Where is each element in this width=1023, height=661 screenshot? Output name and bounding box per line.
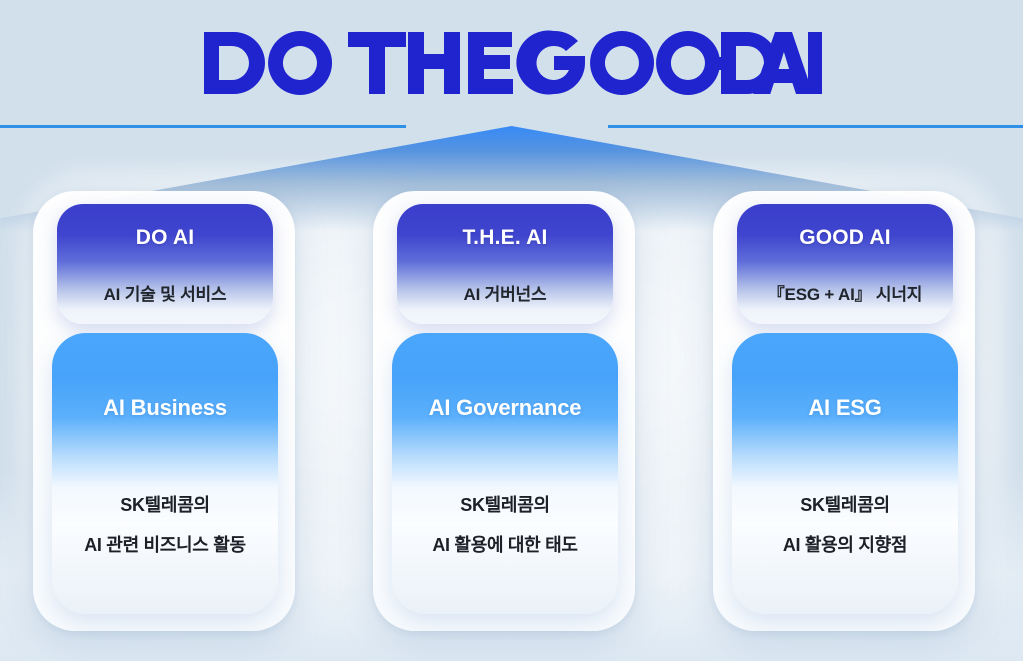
description-line: AI 활용에 대한 태도 bbox=[392, 525, 618, 565]
pillar-title: GOOD AI bbox=[737, 226, 953, 250]
pillar-body-title: AI Governance bbox=[392, 395, 618, 421]
pillar-header-card[interactable]: GOOD AI 『ESG + AI』 시너지 bbox=[737, 204, 953, 324]
pillar-column-do-ai[interactable]: DO AI AI 기술 및 서비스 AI Business SK텔레콤의 AI … bbox=[33, 191, 295, 631]
pillar-title: T.H.E. AI bbox=[397, 226, 613, 250]
infographic-canvas: DO AI AI 기술 및 서비스 AI Business SK텔레콤의 AI … bbox=[0, 0, 1023, 661]
pillar-body-description: SK텔레콤의 AI 관련 비즈니스 활동 bbox=[52, 485, 278, 565]
pillar-body-description: SK텔레콤의 AI 활용의 지향점 bbox=[732, 485, 958, 565]
pillar-column-good-ai[interactable]: GOOD AI 『ESG + AI』 시너지 AI ESG SK텔레콤의 AI … bbox=[713, 191, 975, 631]
description-line: SK텔레콤의 bbox=[392, 485, 618, 525]
pillar-header-card[interactable]: DO AI AI 기술 및 서비스 bbox=[57, 204, 273, 324]
description-line: AI 활용의 지향점 bbox=[732, 525, 958, 565]
pillar-body-card[interactable]: AI Governance SK텔레콤의 AI 활용에 대한 태도 bbox=[392, 333, 618, 614]
description-line: SK텔레콤의 bbox=[52, 485, 278, 525]
pillar-columns: DO AI AI 기술 및 서비스 AI Business SK텔레콤의 AI … bbox=[0, 0, 1023, 661]
description-line: AI 관련 비즈니스 활동 bbox=[52, 525, 278, 565]
pillar-subtitle: AI 거버넌스 bbox=[397, 280, 613, 305]
pillar-column-the-ai[interactable]: T.H.E. AI AI 거버넌스 AI Governance SK텔레콤의 A… bbox=[373, 191, 635, 631]
pillar-header-card[interactable]: T.H.E. AI AI 거버넌스 bbox=[397, 204, 613, 324]
pillar-body-title: AI Business bbox=[52, 395, 278, 421]
description-line: SK텔레콤의 bbox=[732, 485, 958, 525]
pillar-body-description: SK텔레콤의 AI 활용에 대한 태도 bbox=[392, 485, 618, 565]
pillar-body-card[interactable]: AI ESG SK텔레콤의 AI 활용의 지향점 bbox=[732, 333, 958, 614]
pillar-body-title: AI ESG bbox=[732, 395, 958, 421]
pillar-subtitle: 『ESG + AI』 시너지 bbox=[737, 280, 953, 305]
pillar-subtitle: AI 기술 및 서비스 bbox=[57, 280, 273, 305]
pillar-title: DO AI bbox=[57, 226, 273, 250]
pillar-body-card[interactable]: AI Business SK텔레콤의 AI 관련 비즈니스 활동 bbox=[52, 333, 278, 614]
